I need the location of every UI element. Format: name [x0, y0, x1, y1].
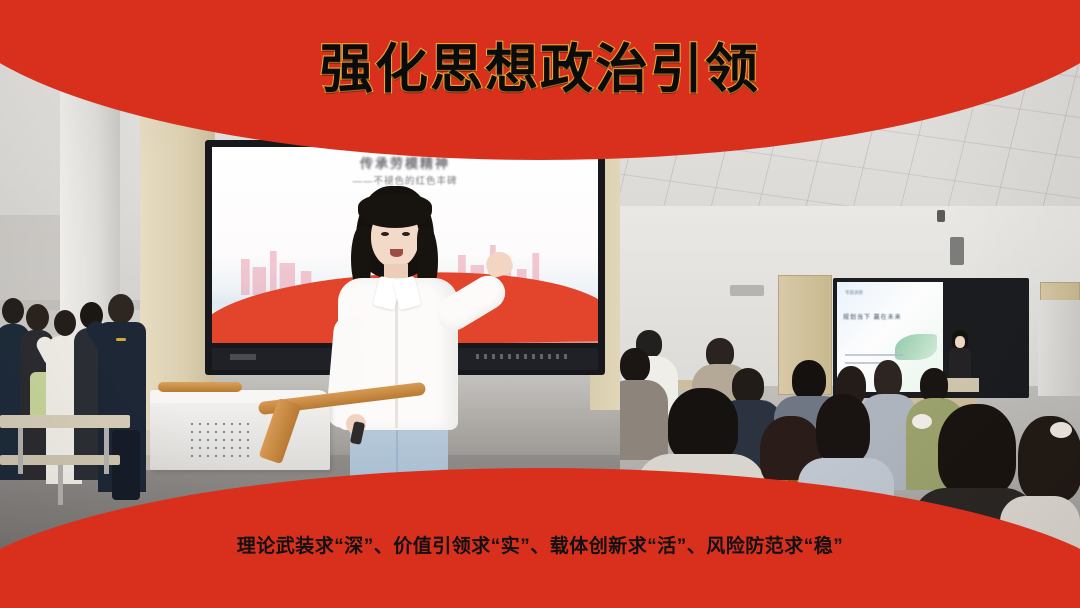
right-screen-headline: 专题讲座 [845, 290, 863, 296]
hair-scrunchie [1050, 422, 1072, 438]
display-logo [230, 354, 256, 360]
ceiling-camera [937, 210, 945, 222]
podium-grille [188, 420, 250, 460]
page-title: 强化思想政治引领 [0, 43, 1080, 96]
wall-vent [730, 285, 764, 296]
handrail-left [158, 382, 242, 392]
slide-root: 传承劳模精神 ——不褪色的红色丰碑 [0, 0, 1080, 608]
left-standing-crowd [0, 280, 160, 500]
screen-subline: ——不褪色的红色丰碑 [212, 173, 598, 187]
presenter-figure [318, 186, 508, 486]
hair-clip [912, 414, 932, 429]
left-desk-front [0, 415, 130, 428]
wall-speaker [950, 237, 964, 265]
slide-caption: 理论武装求“深”、价值引领求“实”、载体创新求“活”、风险防范求“稳” [0, 531, 1080, 558]
right-screen-subline: 规划当下 赢在未来 [843, 312, 902, 321]
